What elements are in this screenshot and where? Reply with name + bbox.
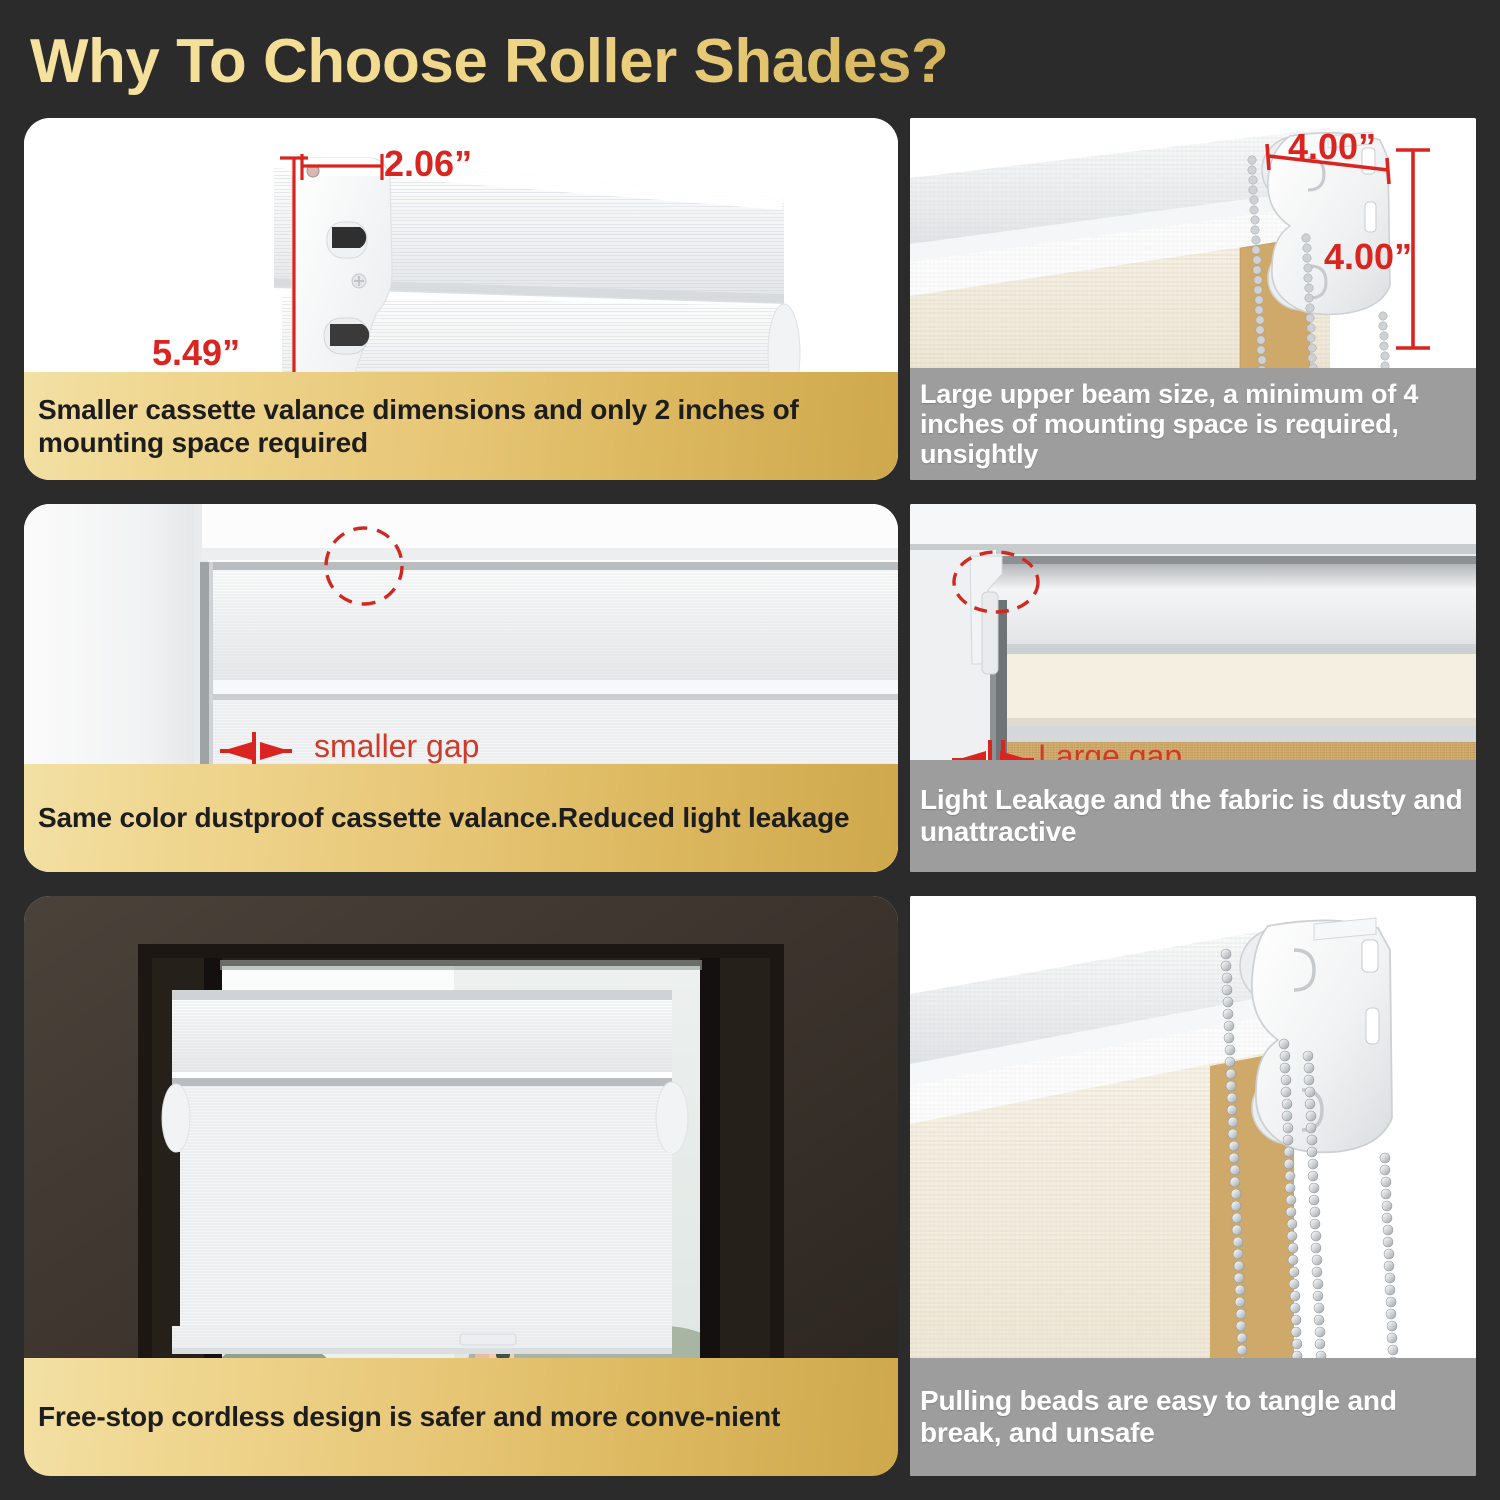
panel-5-caption-text: Free-stop cordless design is safer and m…	[38, 1400, 780, 1433]
dimension-width-label: 4.00”	[1288, 126, 1376, 168]
dimension-height-label: 5.49”	[152, 332, 240, 374]
panel-2-caption-bar: Large upper beam size, a minimum of 4 in…	[910, 368, 1476, 480]
dimension-height-label: 4.00”	[1324, 236, 1412, 278]
page-title: Why To Choose Roller Shades?	[30, 22, 1230, 102]
comparison-grid: 2.06” 5.49” Smaller cassette valance dim…	[24, 118, 1476, 1478]
panel-6-caption-bar: Pulling beads are easy to tangle and bre…	[910, 1358, 1476, 1476]
smaller-gap-label: smaller gap	[314, 728, 479, 765]
panel-6-caption-text: Pulling beads are easy to tangle and bre…	[920, 1385, 1466, 1450]
panel-cordless-design: Free-stop cordless design is safer and m…	[24, 896, 898, 1476]
panel-1-caption-bar: Smaller cassette valance dimensions and …	[24, 372, 898, 480]
panel-smaller-cassette: 2.06” 5.49” Smaller cassette valance dim…	[24, 118, 898, 480]
panel-3-caption-text: Same color dustproof cassette valance.Re…	[38, 801, 849, 834]
panel-1-caption-text: Smaller cassette valance dimensions and …	[38, 393, 884, 459]
panel-large-upper-beam: 4.00” 4.00” Large upper beam size, a min…	[910, 118, 1476, 480]
panel-4-caption-bar: Light Leakage and the fabric is dusty an…	[910, 760, 1476, 872]
dimension-width-label: 2.06”	[384, 143, 472, 185]
panel-3-caption-bar: Same color dustproof cassette valance.Re…	[24, 764, 898, 872]
panel-2-caption-text: Large upper beam size, a minimum of 4 in…	[920, 379, 1466, 470]
panel-4-caption-text: Light Leakage and the fabric is dusty an…	[920, 784, 1466, 849]
panel-5-caption-bar: Free-stop cordless design is safer and m…	[24, 1358, 898, 1476]
page-header: Why To Choose Roller Shades?	[30, 22, 1230, 102]
panel-pulling-beads: Pulling beads are easy to tangle and bre…	[910, 896, 1476, 1476]
panel-light-leakage: Large gap Light Leakage and the fabric i…	[910, 504, 1476, 872]
panel-dustproof-cassette: smaller gap Same color dustproof cassett…	[24, 504, 898, 872]
